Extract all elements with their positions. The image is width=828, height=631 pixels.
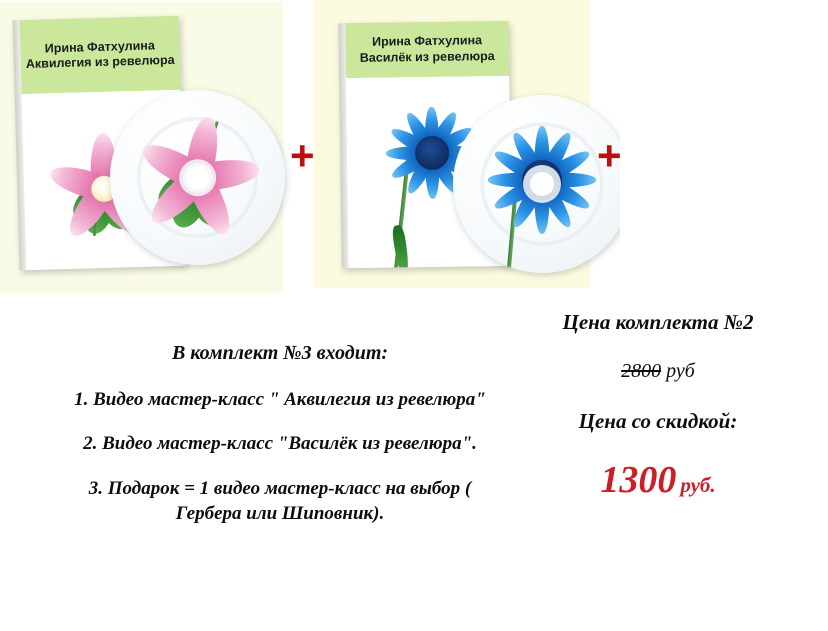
kit-item: 3. Подарок = 1 видео мастер-класс на выб… [60,476,500,527]
product-panel-aquilegia[interactable]: Ирина Фатхулина Аквилегия из ревелюра [0,2,283,293]
kit-contents-block: В комплект №3 входит: 1. Видео мастер-кл… [60,342,500,546]
price-heading: Цена комплекта №2 [498,310,818,335]
kit-item: 2. Видео мастер-класс "Василёк из ревелю… [60,431,500,456]
offer-details-area: В комплект №3 входит: 1. Видео мастер-кл… [0,300,828,631]
old-price: 2800 руб [498,360,818,383]
plus-separator-icon: + [597,135,622,177]
disc-center-hole [530,172,554,196]
dvd-cover-title-band: Ирина Фатхулина Аквилегия из ревелюра [20,16,181,94]
plus-separator-icon: + [290,135,315,177]
new-price: 1300руб. [498,458,818,502]
kit-item: 1. Видео мастер-класс " Аквилегия из рев… [60,387,500,412]
dvd-disc-aquilegia [110,90,285,265]
dvd-disc-cornflower [453,95,631,273]
kit-title: В комплект №3 входит: [60,342,500,365]
dvd-cover-title-band: Ирина Фатхулина Василёк из ревелюра [345,21,509,78]
price-block: Цена комплекта №2 2800 руб Цена со скидк… [498,310,818,502]
new-price-currency: руб. [680,473,715,497]
product-panel-cornflower[interactable]: Ирина Фатхулина Василёк из ревелюра [313,0,590,288]
gift-panel[interactable] [620,0,828,292]
dvd-title-cornflower: Василёк из ревелюра [360,49,495,66]
dvd-title-aquilegia: Аквилегия из ревелюра [26,53,175,72]
new-price-amount: 1300 [600,459,676,501]
discount-label: Цена со скидкой: [498,409,818,434]
old-price-amount: 2800 [621,360,661,382]
disc-center-hole [186,166,210,190]
dvd-author-cornflower: Ирина Фатхулина [372,33,482,50]
old-price-currency: руб [666,360,695,382]
product-strip: Ирина Фатхулина Аквилегия из ревелюра [0,0,828,300]
